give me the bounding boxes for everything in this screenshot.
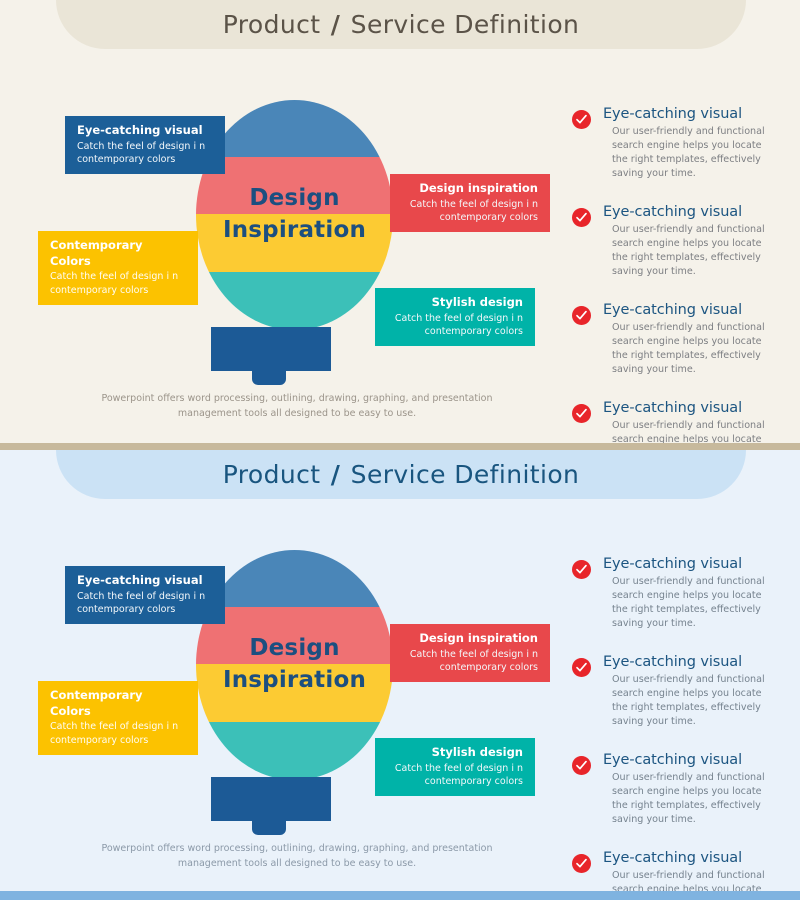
check-circle-icon bbox=[572, 658, 591, 677]
slide-caption: Powerpoint offers word processing, outli… bbox=[72, 392, 522, 421]
callout-title: Contemporary Colors bbox=[50, 238, 186, 269]
bottom-accent-bar bbox=[0, 891, 800, 900]
callout-subtitle: Catch the feel of design i n contemporar… bbox=[50, 270, 186, 297]
callout-eye-catching-visual[interactable]: Eye-catching visual Catch the feel of de… bbox=[65, 116, 225, 174]
header-band: Product / Service Definition bbox=[56, 0, 746, 49]
panel-divider bbox=[0, 443, 800, 450]
feature-list: Eye-catching visual Our user-friendly an… bbox=[572, 106, 797, 443]
callout-title: Stylish design bbox=[387, 745, 523, 761]
feature-item[interactable]: Eye-catching visual Our user-friendly an… bbox=[572, 752, 797, 827]
lightbulb-center-label: Design Inspiration bbox=[196, 550, 393, 780]
feature-body: Our user-friendly and functional search … bbox=[612, 771, 780, 827]
feature-body: Our user-friendly and functional search … bbox=[612, 575, 780, 631]
lightbulb-diagram: Design Inspiration bbox=[196, 100, 396, 360]
feature-title: Eye-catching visual bbox=[603, 106, 797, 123]
feature-title: Eye-catching visual bbox=[603, 654, 797, 671]
check-circle-icon bbox=[572, 208, 591, 227]
feature-title: Eye-catching visual bbox=[603, 400, 797, 417]
page-title-part2: Service Definition bbox=[342, 10, 579, 39]
page-title-slash: / bbox=[329, 460, 343, 489]
page-title: Product / Service Definition bbox=[56, 0, 746, 49]
feature-body: Our user-friendly and functional search … bbox=[612, 223, 780, 279]
callout-title: Stylish design bbox=[387, 295, 523, 311]
page-title-part2: Service Definition bbox=[342, 460, 579, 489]
callout-title: Design inspiration bbox=[402, 631, 538, 647]
callout-design-inspiration[interactable]: Design inspiration Catch the feel of des… bbox=[390, 174, 550, 232]
lightbulb-diagram: Design Inspiration bbox=[196, 550, 396, 810]
feature-title: Eye-catching visual bbox=[603, 302, 797, 319]
callout-contemporary-colors[interactable]: Contemporary Colors Catch the feel of de… bbox=[38, 681, 198, 755]
page-title-part1: Product bbox=[223, 460, 329, 489]
callout-title: Design inspiration bbox=[402, 181, 538, 197]
callout-title: Contemporary Colors bbox=[50, 688, 186, 719]
callout-subtitle: Catch the feel of design i n contemporar… bbox=[77, 590, 213, 617]
page-title-part1: Product bbox=[223, 10, 329, 39]
feature-title: Eye-catching visual bbox=[603, 850, 797, 867]
feature-item[interactable]: Eye-catching visual Our user-friendly an… bbox=[572, 654, 797, 729]
check-circle-icon bbox=[572, 560, 591, 579]
callout-title: Eye-catching visual bbox=[77, 123, 213, 139]
feature-title: Eye-catching visual bbox=[603, 556, 797, 573]
feature-list: Eye-catching visual Our user-friendly an… bbox=[572, 556, 797, 900]
feature-body: Our user-friendly and functional search … bbox=[612, 321, 780, 377]
slide-caption: Powerpoint offers word processing, outli… bbox=[72, 842, 522, 871]
page-title: Product / Service Definition bbox=[56, 450, 746, 499]
feature-title: Eye-catching visual bbox=[603, 752, 797, 769]
callout-design-inspiration[interactable]: Design inspiration Catch the feel of des… bbox=[390, 624, 550, 682]
callout-title: Eye-catching visual bbox=[77, 573, 213, 589]
callout-stylish-design[interactable]: Stylish design Catch the feel of design … bbox=[375, 738, 535, 796]
callout-eye-catching-visual[interactable]: Eye-catching visual Catch the feel of de… bbox=[65, 566, 225, 624]
callout-subtitle: Catch the feel of design i n contemporar… bbox=[402, 198, 538, 225]
callout-subtitle: Catch the feel of design i n contemporar… bbox=[50, 720, 186, 747]
lightbulb-tip bbox=[252, 818, 286, 835]
callout-subtitle: Catch the feel of design i n contemporar… bbox=[77, 140, 213, 167]
header-band: Product / Service Definition bbox=[56, 450, 746, 499]
feature-item[interactable]: Eye-catching visual Our user-friendly an… bbox=[572, 106, 797, 181]
check-circle-icon bbox=[572, 404, 591, 423]
callout-subtitle: Catch the feel of design i n contemporar… bbox=[402, 648, 538, 675]
slide-panel-light: Product / Service Definition Design Insp… bbox=[0, 0, 800, 443]
check-circle-icon bbox=[572, 110, 591, 129]
lightbulb-center-label: Design Inspiration bbox=[196, 100, 393, 330]
lightbulb-tip bbox=[252, 368, 286, 385]
page-title-slash: / bbox=[329, 10, 343, 39]
feature-body: Our user-friendly and functional search … bbox=[612, 125, 780, 181]
lightbulb-base bbox=[211, 327, 331, 371]
check-circle-icon bbox=[572, 854, 591, 873]
feature-item[interactable]: Eye-catching visual Our user-friendly an… bbox=[572, 556, 797, 631]
feature-body: Our user-friendly and functional search … bbox=[612, 673, 780, 729]
callout-subtitle: Catch the feel of design i n contemporar… bbox=[387, 762, 523, 789]
feature-item[interactable]: Eye-catching visual Our user-friendly an… bbox=[572, 302, 797, 377]
feature-body: Our user-friendly and functional search … bbox=[612, 419, 780, 443]
check-circle-icon bbox=[572, 756, 591, 775]
feature-title: Eye-catching visual bbox=[603, 204, 797, 221]
callout-contemporary-colors[interactable]: Contemporary Colors Catch the feel of de… bbox=[38, 231, 198, 305]
feature-item[interactable]: Eye-catching visual Our user-friendly an… bbox=[572, 204, 797, 279]
feature-item[interactable]: Eye-catching visual Our user-friendly an… bbox=[572, 400, 797, 443]
callout-stylish-design[interactable]: Stylish design Catch the feel of design … bbox=[375, 288, 535, 346]
slide-panel-blue: Product / Service Definition Design Insp… bbox=[0, 450, 800, 900]
callout-subtitle: Catch the feel of design i n contemporar… bbox=[387, 312, 523, 339]
check-circle-icon bbox=[572, 306, 591, 325]
lightbulb-base bbox=[211, 777, 331, 821]
